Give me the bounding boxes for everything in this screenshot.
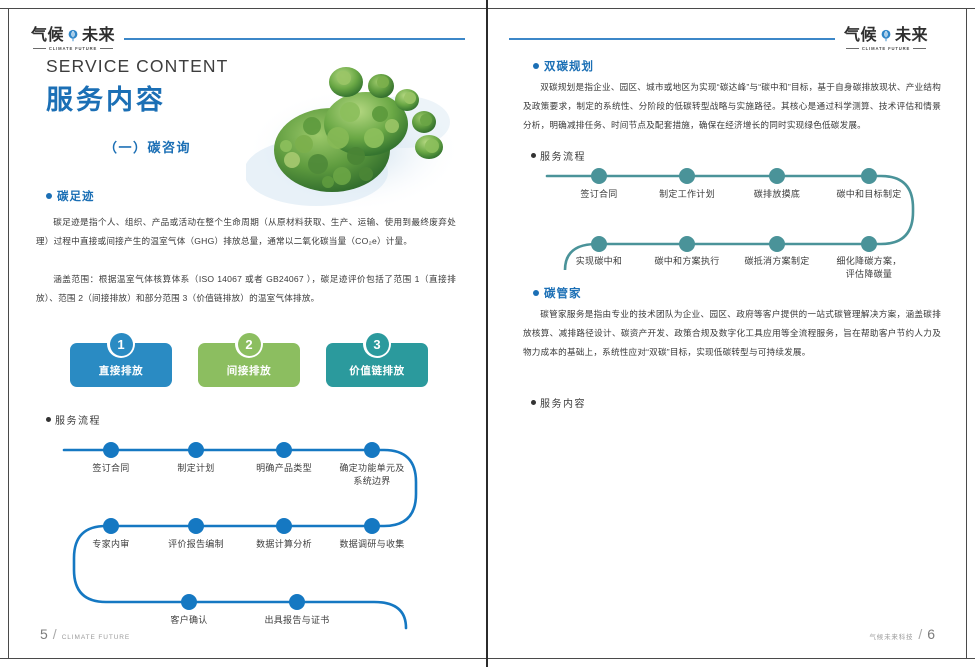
flow-node-left-10: 出具报告与证书 <box>251 614 343 627</box>
brand-logo-text-2: 未来 <box>82 28 115 44</box>
card-number-1: 1 <box>110 333 133 356</box>
flow-node-left-1: 签订合同 <box>69 462 153 475</box>
heading-carbon-steward: 碳管家 <box>533 285 582 301</box>
card-badge-3: 3 <box>363 330 391 358</box>
forest-footprint-illustration <box>246 52 476 232</box>
page-right: 气候 未来 CLIMATE FUTURE <box>487 0 975 667</box>
flow-node-right-3: 碳排放摸底 <box>733 188 821 201</box>
service-flow-diagram-right: 签订合同 制定工作计划 碳排放摸底 碳中和目标制定 细化降碳方案， 评估降碳量 … <box>529 160 941 270</box>
card-indirect-emission[interactable]: 2 间接排放 <box>198 343 300 387</box>
flow-node-right-4: 碳中和目标制定 <box>823 188 915 201</box>
flow-node-left-5: 数据调研与收集 <box>328 538 416 551</box>
card-label-3: 价值链排放 <box>349 363 405 378</box>
footer-left-slash: / <box>53 626 57 642</box>
brand-logo-right: 气候 未来 CLIMATE FUTURE <box>835 28 937 51</box>
card-number-2: 2 <box>238 333 261 356</box>
book-spine <box>486 0 488 667</box>
flow-node-left-4: 确定功能单元及 系统边界 <box>329 462 415 487</box>
heading-service-content: 服务内容 <box>531 395 586 410</box>
page-edge-outer-right <box>966 8 967 659</box>
paragraph-dual-carbon-planning: 双碳规划是指企业、园区、城市或地区为实现“碳达峰”与“碳中和”目标，基于自身碳排… <box>523 78 941 135</box>
heading-dual-carbon-planning-label: 双碳规划 <box>544 58 594 74</box>
tagline-rule-right <box>100 48 113 49</box>
leaf-globe-icon-right <box>879 29 893 43</box>
page-edge-top <box>0 8 487 9</box>
service-flow-diagram-left: 签订合同 制定计划 明确产品类型 确定功能单元及 系统边界 数据调研与收集 数据… <box>44 432 444 632</box>
page-edge-outer-left <box>8 8 9 659</box>
flow-node-right-5: 细化降碳方案， 评估降碳量 <box>822 255 916 280</box>
header-rule-left <box>124 38 465 40</box>
page-left: 气候 未来 CLIMATE FUTURE <box>0 0 487 667</box>
heading-carbon-footprint: 碳足迹 <box>46 188 95 204</box>
brand-logo-tagline: CLIMATE FUTURE <box>33 46 113 51</box>
flow-node-left-7: 评价报告编制 <box>153 538 239 551</box>
paragraph-carbon-steward: 碳管家服务是指由专业的技术团队为企业、园区、政府等客户提供的一站式碳管理解决方案… <box>523 305 941 362</box>
page-title-en: SERVICE CONTENT <box>46 56 228 77</box>
flow-node-left-8: 专家内审 <box>69 538 153 551</box>
heading-dual-carbon-planning: 双碳规划 <box>533 58 594 74</box>
brand-logo-wordmark: 气候 未来 <box>31 28 115 44</box>
brochure-spread: 气候 未来 CLIMATE FUTURE <box>0 0 975 667</box>
brand-logo-text-2-right: 未来 <box>895 28 928 44</box>
footer-left-page-number: 5 <box>40 626 48 642</box>
card-badge-1: 1 <box>107 330 135 358</box>
card-value-chain-emission[interactable]: 3 价值链排放 <box>326 343 428 387</box>
footer-right-brand: 气候未来科技 <box>870 631 914 641</box>
flow-node-left-2: 制定计划 <box>154 462 238 475</box>
page-title-cn: 服务内容 <box>46 78 166 117</box>
section-label-carbon-consulting: （一）碳咨询 <box>104 137 191 156</box>
paragraph-carbon-footprint-2: 涵盖范围：根据温室气体核算体系（ISO 14067 或者 GB24067 ），碳… <box>36 270 456 308</box>
flow-title-left: 服务流程 <box>46 412 101 427</box>
page-edge-bottom <box>0 658 487 659</box>
flow-node-left-3: 明确产品类型 <box>241 462 327 475</box>
page-edge-top-right <box>487 8 975 9</box>
brand-logo-wordmark-right: 气候 未来 <box>844 28 928 44</box>
card-label-1: 直接排放 <box>99 363 143 378</box>
footer-right: 气候未来科技 / 6 <box>870 626 936 642</box>
flow-node-right-1: 签订合同 <box>557 188 641 201</box>
footer-right-slash: / <box>918 626 922 642</box>
footer-left-brand: CLIMATE FUTURE <box>62 634 130 641</box>
tagline-rule-left <box>33 48 46 49</box>
brand-logo-text-1-right: 气候 <box>844 28 877 44</box>
flow-title-left-label: 服务流程 <box>55 412 101 427</box>
footer-left: 5 / CLIMATE FUTURE <box>40 626 130 642</box>
flow-node-right-7: 碳中和方案执行 <box>642 255 732 268</box>
flow-node-left-6: 数据计算分析 <box>241 538 327 551</box>
heading-carbon-footprint-label: 碳足迹 <box>57 188 95 204</box>
header-left: 气候 未来 CLIMATE FUTURE <box>22 25 465 53</box>
brand-logo-text-1: 气候 <box>31 28 64 44</box>
paragraph-carbon-footprint-1: 碳足迹是指个人、组织、产品或活动在整个生命周期（从原材料获取、生产、运输、使用到… <box>36 213 456 251</box>
leaf-globe-icon <box>66 29 80 43</box>
flow-node-right-2: 制定工作计划 <box>643 188 731 201</box>
header-rule-right <box>509 38 835 40</box>
tagline-rule-left-r <box>846 48 859 49</box>
brand-logo-left: 气候 未来 CLIMATE FUTURE <box>22 28 124 51</box>
brand-logo-tagline-right: CLIMATE FUTURE <box>846 46 926 51</box>
page-edge-bottom-right <box>487 658 975 659</box>
card-direct-emission[interactable]: 1 直接排放 <box>70 343 172 387</box>
header-right: 气候 未来 CLIMATE FUTURE <box>509 25 953 53</box>
brand-logo-en-right: CLIMATE FUTURE <box>862 46 910 51</box>
card-badge-2: 2 <box>235 330 263 358</box>
heading-carbon-steward-label: 碳管家 <box>544 285 582 301</box>
card-number-3: 3 <box>366 333 389 356</box>
brand-logo-en: CLIMATE FUTURE <box>49 46 97 51</box>
footer-right-page-number: 6 <box>927 626 935 642</box>
card-label-2: 间接排放 <box>227 363 271 378</box>
emission-scope-cards: 1 直接排放 2 间接排放 3 价值链排放 <box>70 330 430 392</box>
flow-node-right-8: 实现碳中和 <box>557 255 641 268</box>
heading-service-content-label: 服务内容 <box>540 395 586 410</box>
flow-node-right-6: 碳抵消方案制定 <box>732 255 822 268</box>
flow-node-left-9: 客户确认 <box>147 614 231 627</box>
tagline-rule-right-r <box>913 48 926 49</box>
